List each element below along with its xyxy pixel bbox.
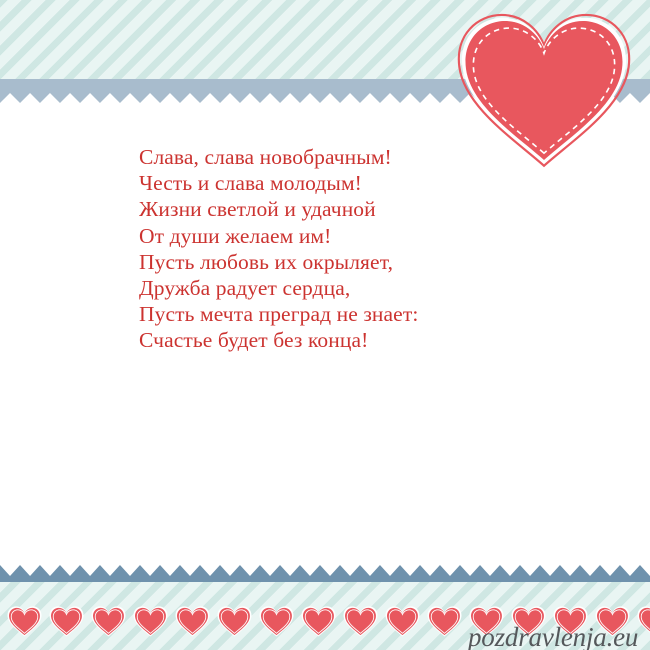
mini-heart-icon bbox=[259, 605, 294, 637]
poem-line: Жизни светлой и удачной bbox=[139, 196, 559, 222]
mini-heart-icon bbox=[91, 605, 126, 637]
bottom-zigzag-edge bbox=[0, 565, 650, 576]
greeting-card: Слава, слава новобрачным! Честь и слава … bbox=[0, 0, 650, 650]
mini-heart-icon bbox=[217, 605, 252, 637]
mini-heart-icon bbox=[175, 605, 210, 637]
poem-line: Слава, слава новобрачным! bbox=[139, 144, 559, 170]
heart-body bbox=[466, 21, 623, 160]
mini-heart-icon bbox=[427, 605, 462, 637]
mini-heart-icon bbox=[637, 605, 650, 637]
poem-line: От души желаем им! bbox=[139, 223, 559, 249]
mini-heart-icon bbox=[7, 605, 42, 637]
poem-line: Пусть любовь их окрыляет, bbox=[139, 249, 559, 275]
mini-heart-icon bbox=[301, 605, 336, 637]
poem-line: Пусть мечта преград не знает: bbox=[139, 301, 559, 327]
mini-heart-icon bbox=[133, 605, 168, 637]
poem-line: Честь и слава молодым! bbox=[139, 170, 559, 196]
poem-line: Дружба радует сердца, bbox=[139, 275, 559, 301]
mini-heart-icon bbox=[343, 605, 378, 637]
poem-text-block: Слава, слава новобрачным! Честь и слава … bbox=[139, 144, 559, 354]
mini-heart-icon bbox=[385, 605, 420, 637]
poem-line: Счастье будет без конца! bbox=[139, 327, 559, 353]
mini-heart-icon bbox=[49, 605, 84, 637]
site-watermark: pozdravlenja.eu bbox=[468, 622, 638, 650]
